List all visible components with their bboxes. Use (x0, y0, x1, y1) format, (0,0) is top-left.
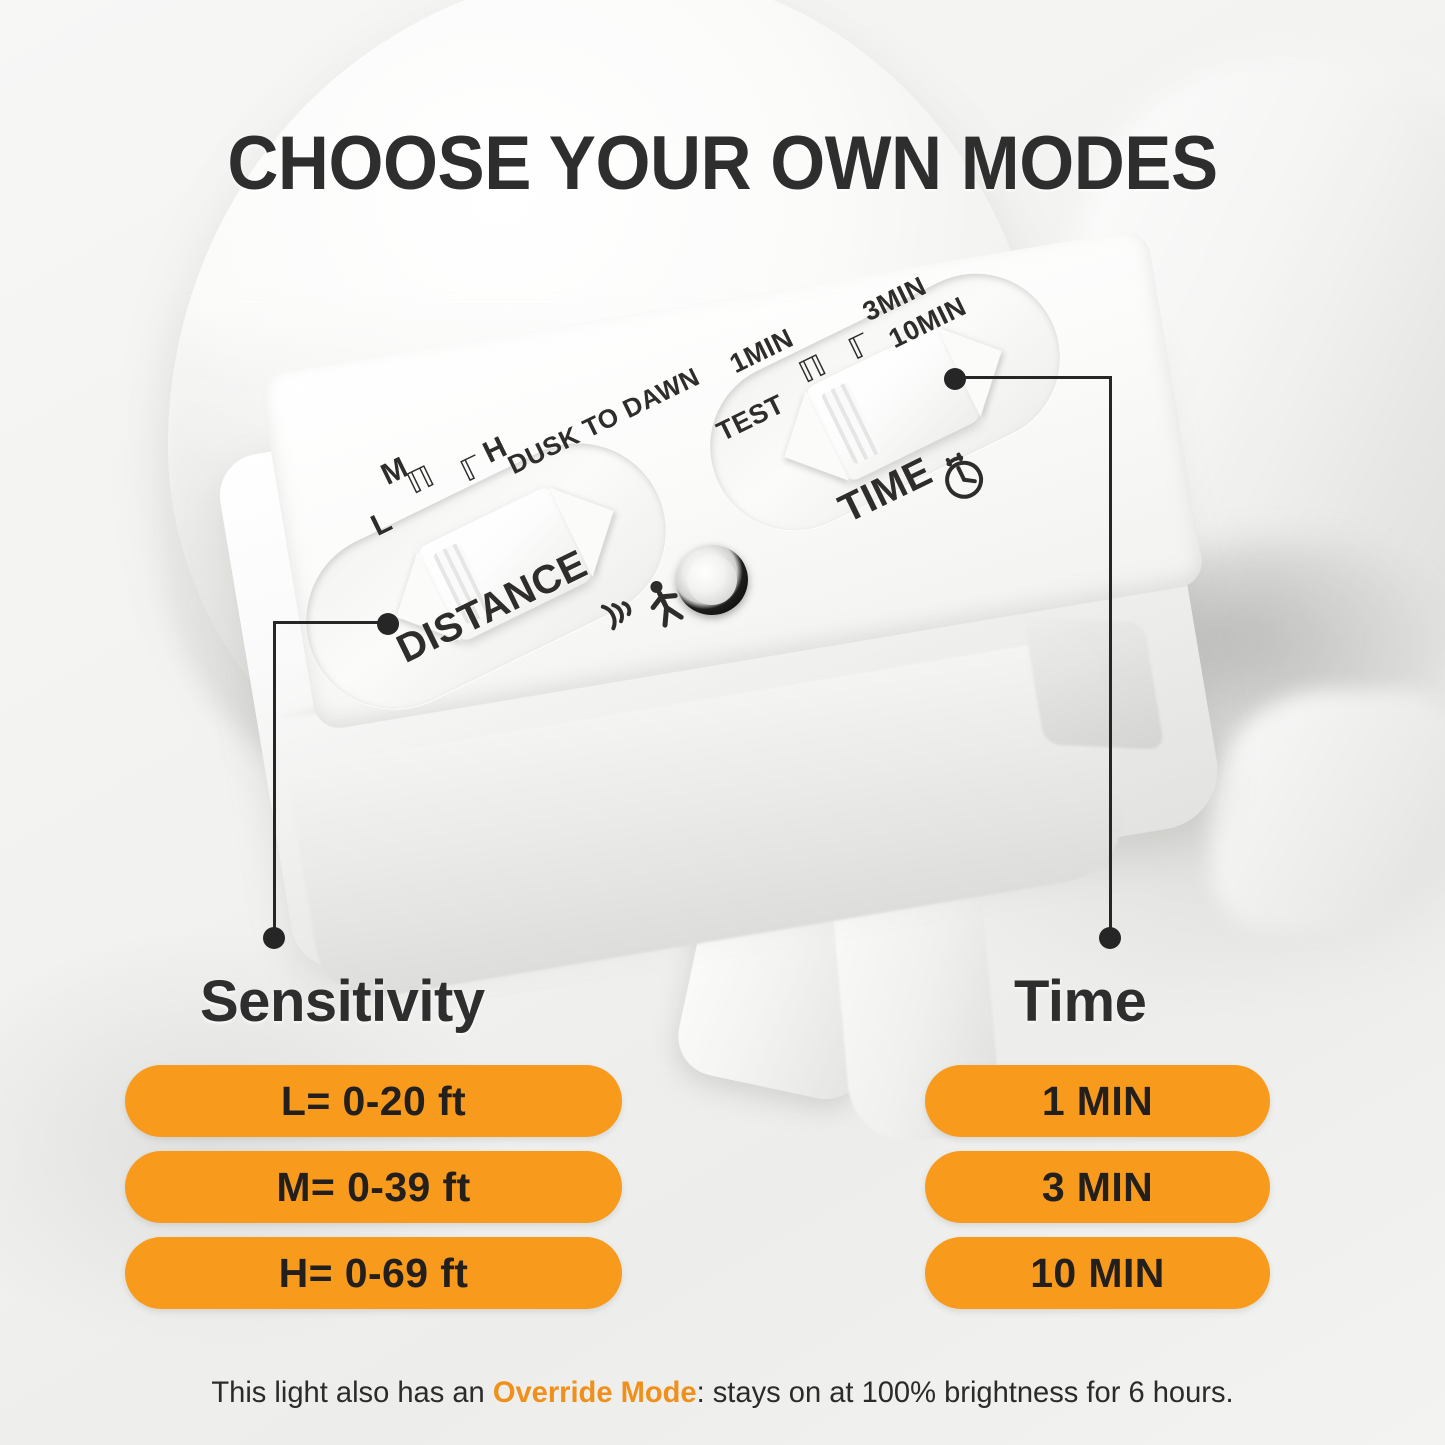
pir-sensor-dome (683, 551, 741, 609)
page-title: CHOOSE YOUR OWN MODES (51, 120, 1395, 207)
caption-highlight: Override Mode (493, 1376, 697, 1409)
fixture-side-vent (1023, 616, 1165, 749)
callout-dot-sensitivity (263, 927, 285, 949)
callout-dot-time-slider (944, 368, 966, 390)
sensitivity-option-mid[interactable]: M= 0-39 ft (125, 1151, 622, 1223)
infographic-page: DISTANCE TIME DUSK TO DAWN TEST 1MIN 3MI… (0, 0, 1445, 1445)
callout-line-horizontal-right (960, 376, 1112, 379)
time-option-3min[interactable]: 3 MIN (925, 1151, 1270, 1223)
sensitivity-option-low[interactable]: L= 0-20 ft (125, 1065, 622, 1137)
callout-line-horizontal-left (275, 621, 385, 624)
background-mount-arm (1210, 690, 1445, 930)
time-option-10min[interactable]: 10 MIN (925, 1237, 1270, 1309)
time-heading: Time (1014, 968, 1146, 1035)
callout-dot-distance (377, 613, 399, 635)
time-option-1min[interactable]: 1 MIN (925, 1065, 1270, 1137)
caption-before: This light also has an (211, 1376, 492, 1409)
callout-line-vertical-left (273, 621, 276, 938)
footer-caption: This light also has an Override Mode: st… (22, 1376, 1424, 1410)
product-photo-background: DISTANCE TIME DUSK TO DAWN TEST 1MIN 3MI… (0, 0, 1445, 1445)
caption-after: : stays on at 100% brightness for 6 hour… (697, 1376, 1234, 1409)
sensitivity-heading: Sensitivity (200, 968, 485, 1035)
sensitivity-option-high[interactable]: H= 0-69 ft (125, 1237, 622, 1309)
callout-line-vertical-right (1109, 376, 1112, 938)
callout-dot-time (1099, 927, 1121, 949)
